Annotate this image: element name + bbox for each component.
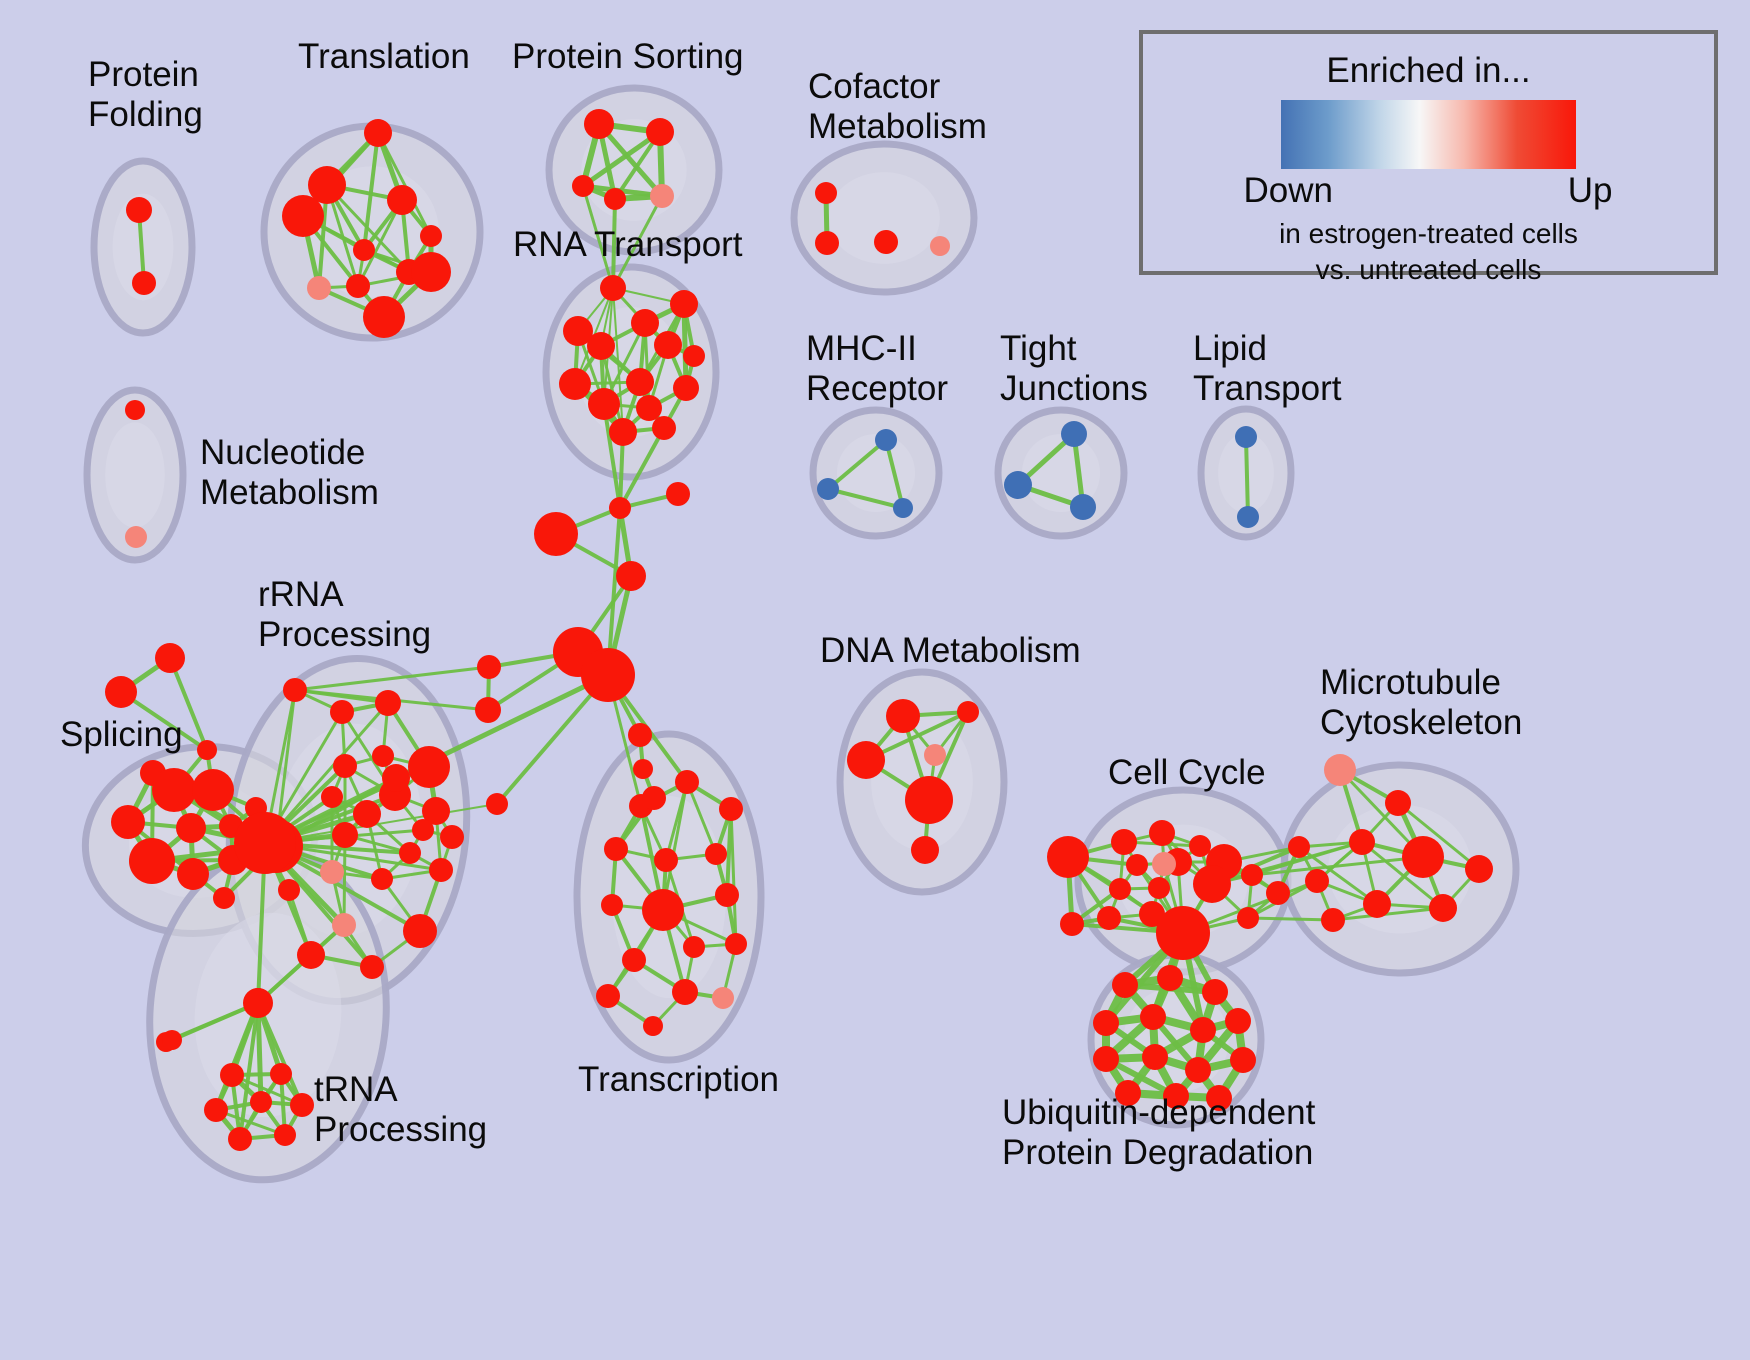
cluster-label-line: Metabolism — [808, 107, 987, 146]
node-rrna[interactable] — [399, 842, 421, 864]
node-trna[interactable] — [228, 1127, 252, 1151]
node-microtubule[interactable] — [1288, 836, 1310, 858]
node-protein-sorting[interactable] — [646, 118, 674, 146]
node-dna-metabolism[interactable] — [911, 836, 939, 864]
cluster-label-line: Protein Sorting — [512, 37, 744, 76]
node-rrna[interactable] — [297, 941, 325, 969]
node-bridge[interactable] — [642, 786, 666, 810]
legend-title: Enriched in... — [1143, 51, 1714, 91]
node-transcription[interactable] — [712, 987, 734, 1009]
node-ubiquitin[interactable] — [1157, 965, 1183, 991]
cluster-label-line: Receptor — [806, 369, 948, 408]
node-rrna[interactable] — [333, 754, 357, 778]
node-translation[interactable] — [282, 195, 324, 237]
node-cell-cycle[interactable] — [1149, 820, 1175, 846]
cluster-inner-glow — [105, 422, 165, 527]
node-rrna[interactable] — [408, 746, 450, 788]
node-rna-transport[interactable] — [559, 368, 591, 400]
node-ubiquitin[interactable] — [1225, 1008, 1251, 1034]
cluster-label-protein-folding: ProteinFolding — [88, 55, 203, 134]
node-splicing[interactable] — [177, 858, 209, 890]
node-transcription[interactable] — [622, 948, 646, 972]
node-translation[interactable] — [307, 276, 331, 300]
node-rna-transport[interactable] — [683, 345, 705, 367]
cluster-label-nucleotide: NucleotideMetabolism — [200, 433, 379, 512]
node-cell-cycle[interactable] — [1047, 836, 1089, 878]
node-splicing[interactable] — [129, 838, 175, 884]
node-rna-transport[interactable] — [652, 416, 676, 440]
node-bridge[interactable] — [628, 723, 652, 747]
cluster-label-line: Folding — [88, 95, 203, 134]
node-rna-transport[interactable] — [631, 309, 659, 337]
node-rrna[interactable] — [283, 678, 307, 702]
cluster-label-line: Microtubule — [1320, 663, 1501, 702]
node-rna-transport[interactable] — [670, 290, 698, 318]
node-transcription[interactable] — [601, 894, 623, 916]
node-translation[interactable] — [420, 225, 442, 247]
legend-color-gradient — [1281, 100, 1576, 169]
cluster-halo-mhc-ii — [813, 410, 939, 536]
node-bridge[interactable] — [616, 561, 646, 591]
node-rna-transport[interactable] — [654, 331, 682, 359]
node-splicing[interactable] — [155, 643, 185, 673]
node-transcription[interactable] — [683, 936, 705, 958]
node-rna-transport[interactable] — [673, 375, 699, 401]
node-splicing[interactable] — [105, 676, 137, 708]
cluster-label-line: Processing — [258, 615, 431, 654]
node-cofactor[interactable] — [874, 230, 898, 254]
node-dna-metabolism[interactable] — [957, 701, 979, 723]
node-cell-cycle[interactable] — [1237, 907, 1259, 929]
cluster-label-line: Transport — [1193, 369, 1342, 408]
cluster-label-line: RNA Transport — [513, 225, 743, 264]
cluster-label-ubiquitin: Ubiquitin-dependentProtein Degradation — [1002, 1093, 1316, 1172]
node-splicing[interactable] — [152, 768, 196, 812]
legend-up-label: Up — [1568, 171, 1613, 211]
node-splicing[interactable] — [213, 887, 235, 909]
node-ubiquitin[interactable] — [1230, 1047, 1256, 1073]
node-splicing[interactable] — [192, 769, 234, 811]
node-ubiquitin[interactable] — [1093, 1010, 1119, 1036]
node-trna[interactable] — [274, 1124, 296, 1146]
node-transcription[interactable] — [672, 979, 698, 1005]
cluster-label-line: DNA Metabolism — [820, 631, 1081, 670]
node-cell-cycle[interactable] — [1152, 852, 1176, 876]
node-microtubule[interactable] — [1465, 855, 1493, 883]
node-bridge[interactable] — [477, 655, 501, 679]
node-splicing[interactable] — [197, 740, 217, 760]
node-rrna[interactable] — [234, 812, 296, 874]
node-microtubule[interactable] — [1429, 894, 1457, 922]
cluster-label-line: Protein — [88, 55, 199, 94]
cluster-label-line: Splicing — [60, 715, 183, 754]
node-microtubule[interactable] — [1385, 790, 1411, 816]
cluster-halo-cofactor — [794, 144, 974, 292]
node-cell-cycle[interactable] — [1148, 877, 1170, 899]
node-rrna[interactable] — [278, 879, 300, 901]
node-rrna[interactable] — [320, 860, 344, 884]
node-cell-cycle[interactable] — [1126, 854, 1148, 876]
node-dna-metabolism[interactable] — [847, 741, 885, 779]
cluster-label-protein-sorting: Protein Sorting — [512, 37, 744, 76]
node-cofactor[interactable] — [815, 231, 839, 255]
node-rrna[interactable] — [429, 858, 453, 882]
node-rrna[interactable] — [403, 914, 437, 948]
legend-subtitle-line1: in estrogen-treated cells — [1143, 217, 1714, 251]
cluster-label-dna-metabolism: DNA Metabolism — [820, 631, 1081, 670]
node-rrna[interactable] — [330, 700, 354, 724]
cluster-label-line: Transcription — [578, 1060, 779, 1099]
node-dna-metabolism[interactable] — [886, 699, 920, 733]
cluster-label-line: Tight — [1000, 329, 1077, 368]
node-transcription[interactable] — [719, 797, 743, 821]
node-nucleotide[interactable] — [125, 400, 145, 420]
node-rrna[interactable] — [375, 690, 401, 716]
node-microtubule[interactable] — [1363, 890, 1391, 918]
figure-canvas: ProteinFoldingTranslationProtein Sorting… — [0, 0, 1750, 1360]
cluster-label-line: Protein Degradation — [1002, 1133, 1313, 1172]
node-cell-cycle[interactable] — [1193, 865, 1231, 903]
node-transcription[interactable] — [675, 770, 699, 794]
node-translation[interactable] — [387, 185, 417, 215]
node-lipid-transport[interactable] — [1237, 506, 1259, 528]
cluster-label-line: Metabolism — [200, 473, 379, 512]
node-rrna[interactable] — [332, 913, 356, 937]
cluster-label-line: Nucleotide — [200, 433, 365, 472]
node-cofactor[interactable] — [930, 236, 950, 256]
node-microtubule[interactable] — [1305, 869, 1329, 893]
cluster-label-line: Ubiquitin-dependent — [1002, 1093, 1316, 1132]
node-ubiquitin[interactable] — [1093, 1046, 1119, 1072]
node-cell-cycle[interactable] — [1156, 906, 1210, 960]
node-rrna[interactable] — [321, 786, 343, 808]
node-rna-transport[interactable] — [626, 368, 654, 396]
cluster-label-line: rRNA — [258, 575, 344, 614]
node-translation[interactable] — [411, 252, 451, 292]
node-cell-cycle[interactable] — [1111, 829, 1137, 855]
node-splicing[interactable] — [176, 813, 206, 843]
node-trna[interactable] — [250, 1091, 272, 1113]
node-bridge[interactable] — [162, 1030, 182, 1050]
cluster-label-rna-transport: RNA Transport — [513, 225, 743, 264]
node-ubiquitin[interactable] — [1112, 972, 1138, 998]
node-bridge[interactable] — [609, 497, 631, 519]
node-rrna[interactable] — [372, 745, 394, 767]
node-trna[interactable] — [290, 1093, 314, 1117]
node-transcription[interactable] — [715, 883, 739, 907]
node-cell-cycle[interactable] — [1189, 835, 1211, 857]
node-transcription[interactable] — [725, 933, 747, 955]
bridge-edge — [1248, 918, 1333, 920]
node-rna-transport[interactable] — [600, 275, 626, 301]
legend-down-label: Down — [1244, 171, 1333, 211]
cluster-label-line: Junctions — [1000, 369, 1148, 408]
node-ubiquitin[interactable] — [1142, 1044, 1168, 1070]
node-microtubule[interactable] — [1402, 836, 1444, 878]
node-cofactor[interactable] — [815, 182, 837, 204]
node-transcription[interactable] — [654, 848, 678, 872]
node-transcription[interactable] — [643, 1016, 663, 1036]
node-lipid-transport[interactable] — [1235, 426, 1257, 448]
node-tight-junctions[interactable] — [1070, 494, 1096, 520]
node-mhc-ii[interactable] — [875, 429, 897, 451]
node-microtubule[interactable] — [1321, 908, 1345, 932]
node-bridge[interactable] — [666, 482, 690, 506]
node-bridge[interactable] — [382, 764, 410, 792]
node-protein-sorting[interactable] — [650, 184, 674, 208]
node-trna[interactable] — [270, 1063, 292, 1085]
node-bridge[interactable] — [633, 759, 653, 779]
node-translation[interactable] — [364, 119, 392, 147]
cluster-label-line: Cofactor — [808, 67, 941, 106]
node-splicing[interactable] — [111, 805, 145, 839]
node-bridge[interactable] — [534, 512, 578, 556]
node-transcription[interactable] — [604, 837, 628, 861]
node-cell-cycle[interactable] — [1097, 906, 1121, 930]
cluster-label-line: Lipid — [1193, 329, 1267, 368]
node-transcription[interactable] — [705, 843, 727, 865]
cluster-label-microtubule: MicrotubuleCytoskeleton — [1320, 663, 1522, 742]
node-tight-junctions[interactable] — [1004, 471, 1032, 499]
node-nucleotide[interactable] — [125, 526, 147, 548]
node-protein-sorting[interactable] — [604, 188, 626, 210]
cluster-label-line: Processing — [314, 1110, 487, 1149]
node-cell-cycle[interactable] — [1241, 864, 1263, 886]
cluster-label-line: Cell Cycle — [1108, 753, 1266, 792]
cluster-label-line: tRNA — [314, 1070, 398, 1109]
node-protein-sorting[interactable] — [572, 175, 594, 197]
edge — [344, 835, 345, 925]
node-rrna[interactable] — [353, 800, 381, 828]
node-cell-cycle[interactable] — [1109, 878, 1131, 900]
node-microtubule[interactable] — [1349, 829, 1375, 855]
node-ubiquitin[interactable] — [1202, 979, 1228, 1005]
node-transcription[interactable] — [596, 984, 620, 1008]
node-protein-folding[interactable] — [132, 271, 156, 295]
node-rrna[interactable] — [412, 819, 434, 841]
node-dna-metabolism[interactable] — [924, 744, 946, 766]
cluster-label-line: MHC-II — [806, 329, 917, 368]
node-protein-folding[interactable] — [126, 197, 152, 223]
node-translation[interactable] — [346, 274, 370, 298]
node-rrna[interactable] — [360, 955, 384, 979]
cluster-label-splicing: Splicing — [60, 715, 183, 754]
node-rrna[interactable] — [440, 825, 464, 849]
node-dna-metabolism[interactable] — [905, 776, 953, 824]
node-bridge[interactable] — [486, 793, 508, 815]
legend-box: Enriched in... Down Up in estrogen-treat… — [1139, 30, 1718, 275]
node-ubiquitin[interactable] — [1140, 1004, 1166, 1030]
node-rrna[interactable] — [332, 822, 358, 848]
node-rna-transport[interactable] — [587, 332, 615, 360]
cluster-label-translation: Translation — [298, 37, 470, 76]
node-ubiquitin[interactable] — [1190, 1017, 1216, 1043]
cluster-label-cell-cycle: Cell Cycle — [1108, 753, 1266, 792]
node-bridge[interactable] — [244, 988, 272, 1016]
legend-subtitle-line2: vs. untreated cells — [1143, 253, 1714, 287]
node-microtubule[interactable] — [1324, 754, 1356, 786]
node-bridge[interactable] — [581, 648, 635, 702]
node-bridge[interactable] — [475, 697, 501, 723]
node-rna-transport[interactable] — [588, 388, 620, 420]
node-rna-transport[interactable] — [636, 395, 662, 421]
node-mhc-ii[interactable] — [893, 498, 913, 518]
node-cell-cycle[interactable] — [1266, 881, 1290, 905]
cluster-label-line: Translation — [298, 37, 470, 76]
node-rna-transport[interactable] — [609, 418, 637, 446]
node-translation[interactable] — [363, 296, 405, 338]
node-ubiquitin[interactable] — [1185, 1057, 1211, 1083]
node-rrna[interactable] — [371, 868, 393, 890]
node-protein-sorting[interactable] — [584, 109, 614, 139]
edge — [1246, 437, 1248, 517]
cluster-label-transcription: Transcription — [578, 1060, 779, 1099]
node-tight-junctions[interactable] — [1061, 421, 1087, 447]
cluster-label-line: Cytoskeleton — [1320, 703, 1522, 742]
node-mhc-ii[interactable] — [817, 478, 839, 500]
node-trna[interactable] — [204, 1098, 228, 1122]
node-cell-cycle[interactable] — [1060, 912, 1084, 936]
node-translation[interactable] — [353, 239, 375, 261]
node-transcription[interactable] — [642, 889, 684, 931]
node-trna[interactable] — [220, 1063, 244, 1087]
